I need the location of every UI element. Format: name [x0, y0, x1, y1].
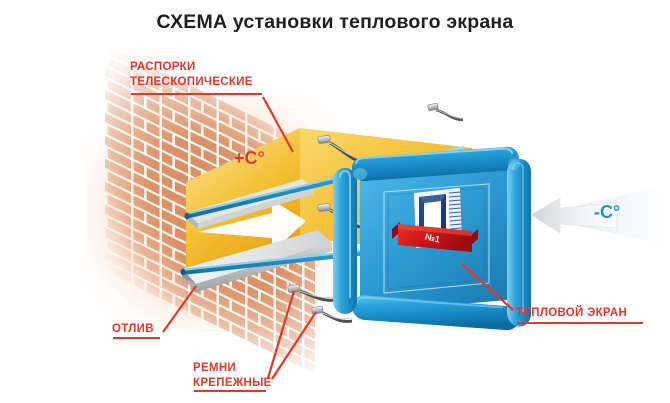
temperature-warm: +C°: [234, 148, 265, 169]
label-sill: ОТЛИВ: [112, 322, 154, 337]
label-spacers-line1: РАСПОРКИ: [130, 60, 253, 75]
temperature-cold: -C°: [594, 202, 620, 223]
label-spacers-line2: ТЕЛЕСКОПИЧЕСКИЕ: [130, 75, 253, 90]
label-straps-line2: КРЕПЕЖНЫЕ: [193, 376, 272, 391]
leader-sill: [163, 286, 196, 332]
strap-top: [427, 103, 463, 120]
diagram-canvas: СХЕМА установки теплового экрана: [0, 0, 670, 403]
strap-lower-left: [288, 284, 336, 300]
screen-frame-left: [333, 168, 357, 314]
label-straps-line1: РЕМНИ: [193, 361, 272, 376]
label-heat-screen: ТЕПЛОВОЙ ЭКРАН: [516, 306, 627, 321]
diagram-vector-layer: [0, 0, 670, 403]
label-telescopic-spacers: РАСПОРКИ ТЕЛЕСКОПИЧЕСКИЕ: [130, 60, 253, 89]
screen-frame-right: [507, 159, 531, 327]
label-fastening-straps: РЕМНИ КРЕПЕЖНЫЕ: [193, 361, 272, 390]
